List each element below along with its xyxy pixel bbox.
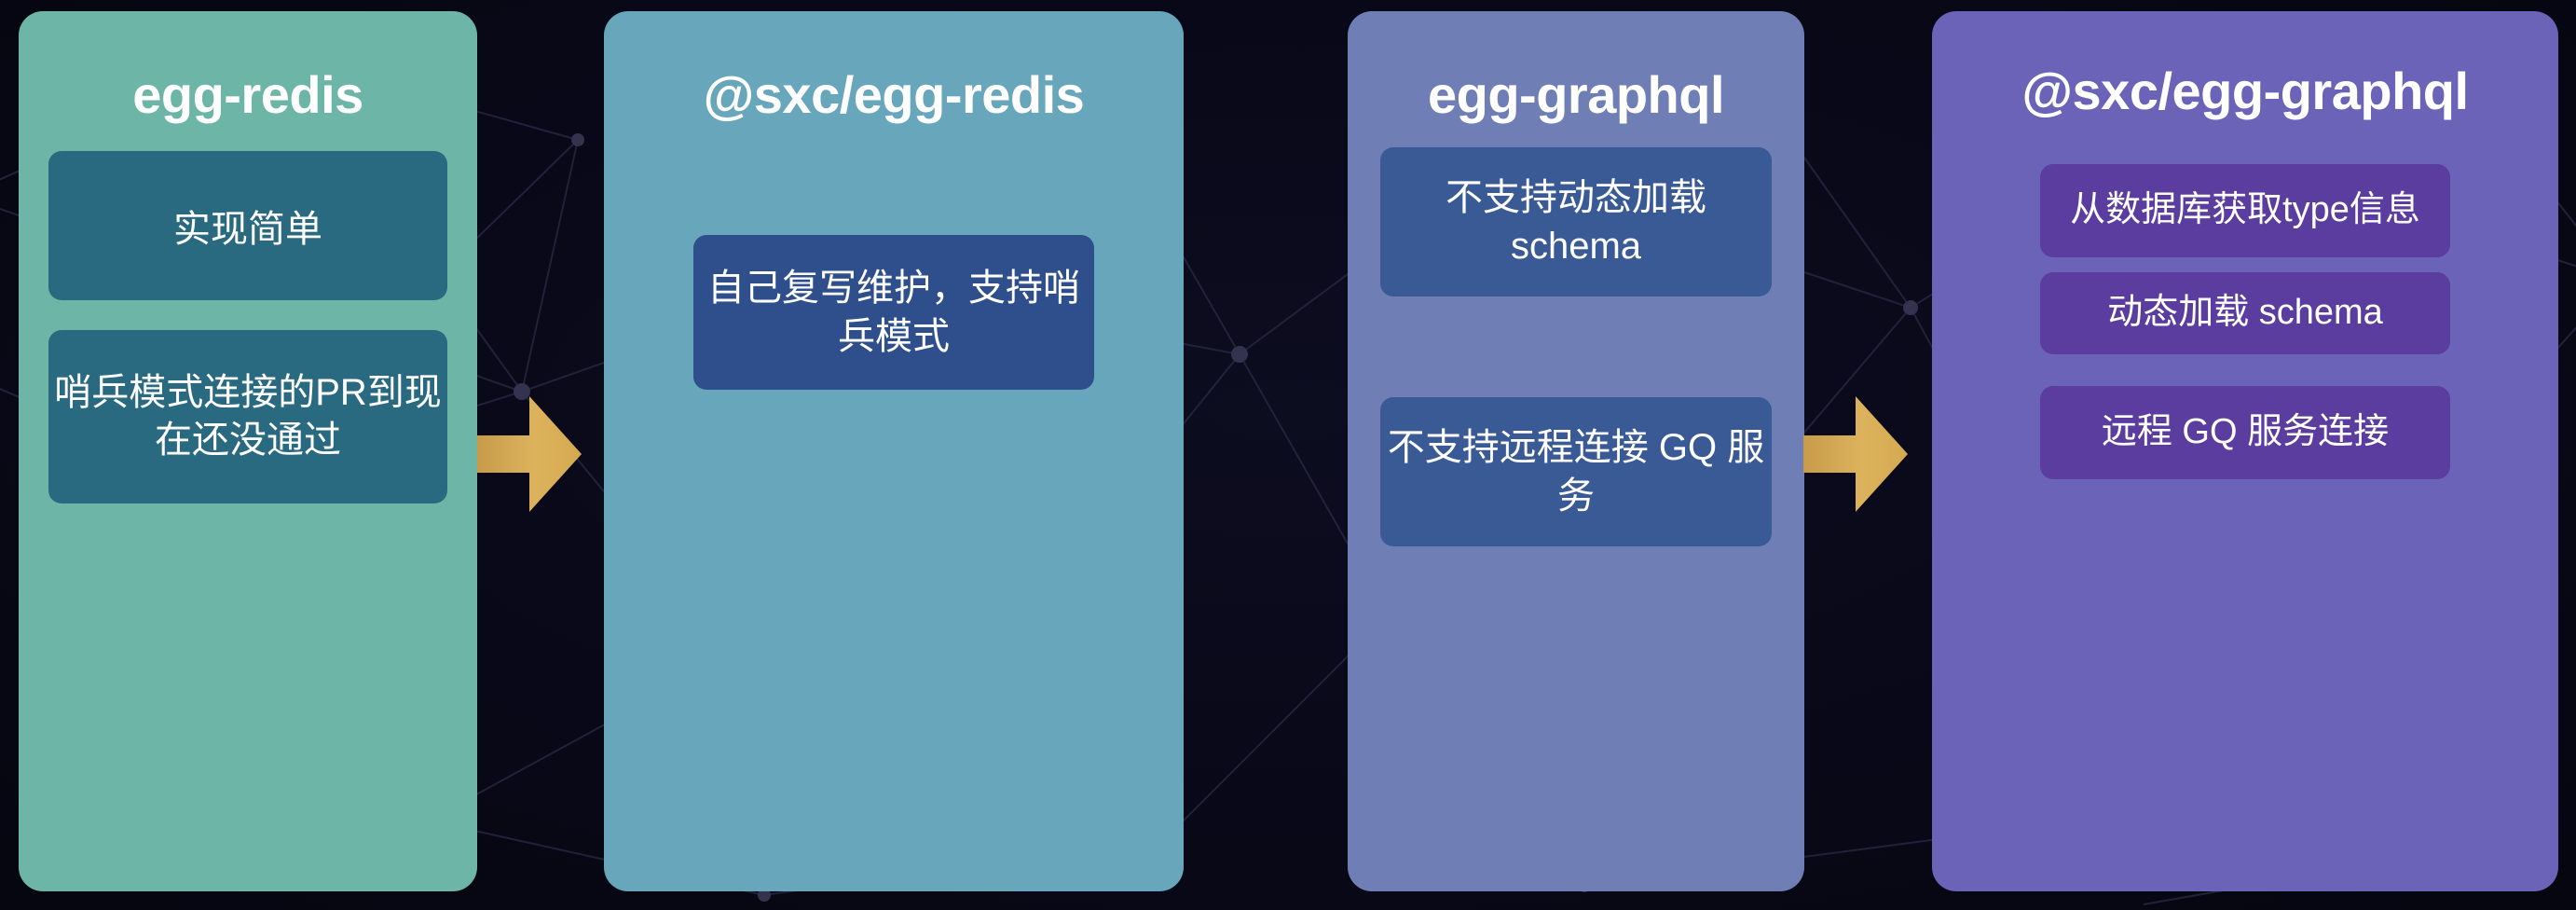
feature-box: 不支持动态加载 schema — [1380, 147, 1772, 296]
feature-box: 哨兵模式连接的PR到现在还没通过 — [48, 330, 447, 503]
card-sxc-egg-redis[interactable]: @sxc/egg-redis 自己复写维护，支持哨兵模式 — [604, 11, 1184, 891]
feature-box: 实现简单 — [48, 151, 447, 300]
card-egg-graphql[interactable]: egg-graphql 不支持动态加载 schema 不支持远程连接 GQ 服务 — [1348, 11, 1804, 891]
arrow-right-icon — [477, 396, 582, 512]
card-title-sxc-egg-graphql: @sxc/egg-graphql — [2021, 65, 2468, 117]
feature-box: 动态加载 schema — [2040, 272, 2450, 354]
feature-box: 从数据库获取type信息 — [2040, 164, 2450, 257]
card-title-sxc-egg-redis: @sxc/egg-redis — [704, 69, 1085, 121]
arrow-right-icon — [1803, 396, 1908, 512]
card-egg-redis[interactable]: egg-redis 实现简单 哨兵模式连接的PR到现在还没通过 — [19, 11, 477, 891]
feature-box: 自己复写维护，支持哨兵模式 — [693, 235, 1094, 390]
diagram-canvas: egg-redis 实现简单 哨兵模式连接的PR到现在还没通过 @sxc/egg… — [0, 0, 2576, 910]
card-sxc-egg-graphql[interactable]: @sxc/egg-graphql 从数据库获取type信息 动态加载 schem… — [1932, 11, 2558, 891]
feature-box: 不支持远程连接 GQ 服务 — [1380, 397, 1772, 546]
card-title-egg-graphql: egg-graphql — [1428, 69, 1724, 121]
feature-box: 远程 GQ 服务连接 — [2040, 386, 2450, 479]
card-title-egg-redis: egg-redis — [132, 69, 363, 121]
